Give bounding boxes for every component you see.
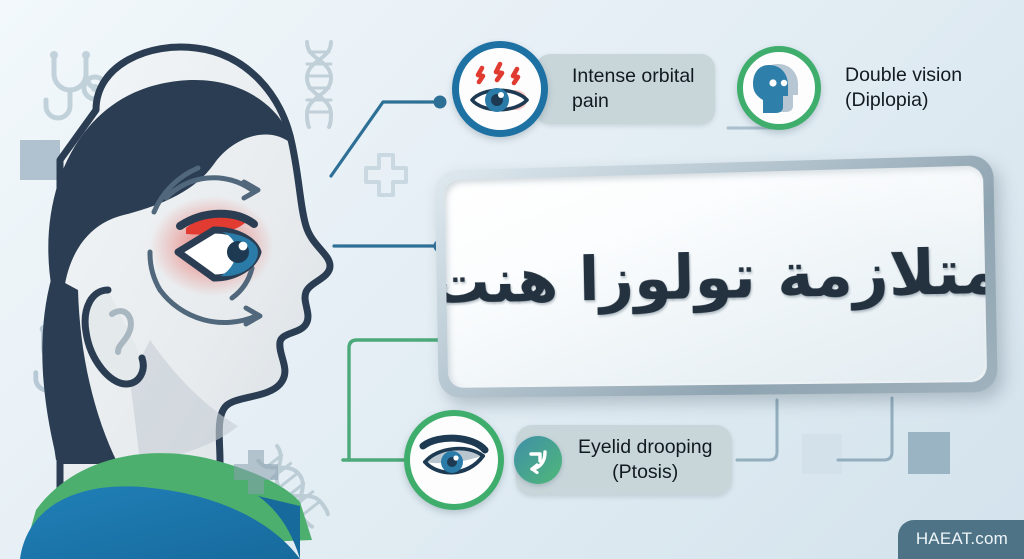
board-face: متلازمة تولوزا هنت — [444, 165, 987, 387]
symptom-eyelid-drooping[interactable]: Eyelid drooping (Ptosis) — [404, 410, 732, 510]
symptom-label-line1: Intense orbital — [572, 64, 695, 89]
symptom-intense-orbital-pain[interactable]: Intense orbital pain — [452, 41, 715, 137]
symptom-label-double-vision: Double vision (Diplopia) — [837, 57, 970, 119]
symptom-double-vision[interactable]: Double vision (Diplopia) — [737, 46, 970, 130]
watermark: HAEAT.com — [898, 520, 1024, 559]
symptom-label-line2: pain — [572, 89, 695, 114]
drooping-eyelid-eye-icon — [404, 410, 504, 510]
symptom-label-line1: Eyelid drooping — [578, 435, 712, 460]
angry-red-eye-icon — [452, 41, 548, 137]
double-head-silhouette-icon — [737, 46, 821, 130]
symptom-label-line2: (Diplopia) — [845, 88, 962, 113]
symptom-label-line2: (Ptosis) — [578, 460, 712, 485]
symptom-label-intense-orbital-pain: Intense orbital pain — [536, 54, 715, 124]
male-head-profile-illustration — [0, 40, 420, 559]
syndrome-title-board: متلازمة تولوزا هنت — [430, 163, 990, 395]
symptom-label-line1: Double vision — [845, 63, 962, 88]
medical-cross-icon — [802, 434, 842, 474]
medical-cross-icon — [908, 432, 950, 474]
board-frame: متلازمة تولوزا هنت — [435, 155, 998, 398]
page-title: متلازمة تولوزا هنت — [444, 235, 987, 321]
droop-arrow-icon — [514, 436, 562, 484]
infographic-canvas: Intense orbital pain Double vision (Dipl… — [0, 0, 1024, 559]
